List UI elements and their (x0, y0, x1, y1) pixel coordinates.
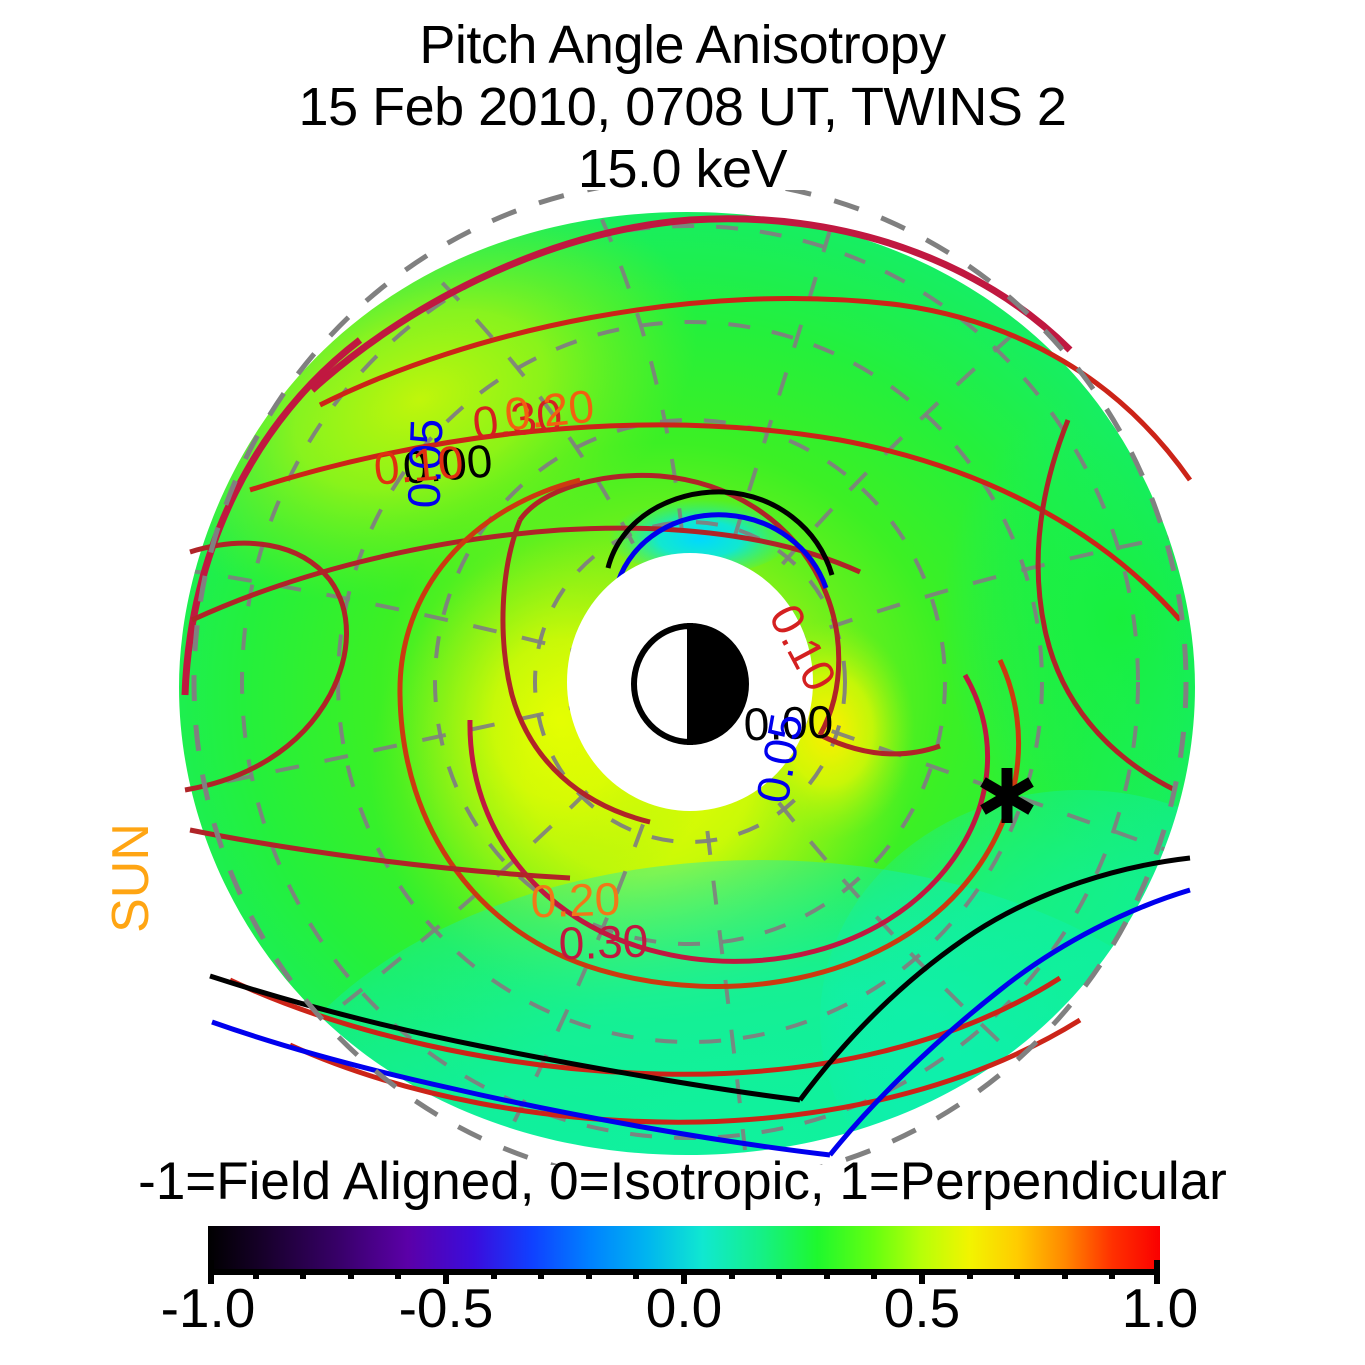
page-title: Pitch Angle Anisotropy (0, 14, 1365, 76)
contour-label: 0.20 (502, 380, 596, 441)
colorbar-tick-label: -1.0 (108, 1277, 308, 1339)
contour-label: 0.10 (372, 435, 466, 495)
title-subtitle-datetime: 15 Feb 2010, 0708 UT, TWINS 2 (0, 76, 1365, 138)
earth-icon (634, 626, 746, 742)
figure-title-block: Pitch Angle Anisotropy 15 Feb 2010, 0708… (0, 14, 1365, 200)
contour-label: 0.30 (558, 914, 649, 969)
anisotropy-polar-plot: 0.300.200.000.050.100.100.000.050.200.30… (0, 190, 1365, 1165)
colorbar-tick-labels: -1.0-0.50.00.51.0 (0, 1277, 1365, 1347)
figure-root: Pitch Angle Anisotropy 15 Feb 2010, 0708… (0, 0, 1365, 1365)
colorbar-caption: -1=Field Aligned, 0=Isotropic, 1=Perpend… (0, 1153, 1365, 1211)
colorbar-tick-label: -0.5 (346, 1277, 546, 1339)
colorbar-gradient-strip (208, 1226, 1160, 1272)
plot-canvas: 0.300.200.000.050.100.100.000.050.200.30 (0, 190, 1365, 1165)
colorbar-tick-label: 1.0 (1060, 1277, 1260, 1339)
sun-direction-label: SUN (103, 788, 159, 968)
colorbar-tick-label: 0.0 (584, 1277, 784, 1339)
field-right-green-wedge (940, 390, 1300, 850)
colorbar[interactable] (208, 1226, 1160, 1272)
colorbar-tick-label: 0.5 (822, 1277, 1022, 1339)
